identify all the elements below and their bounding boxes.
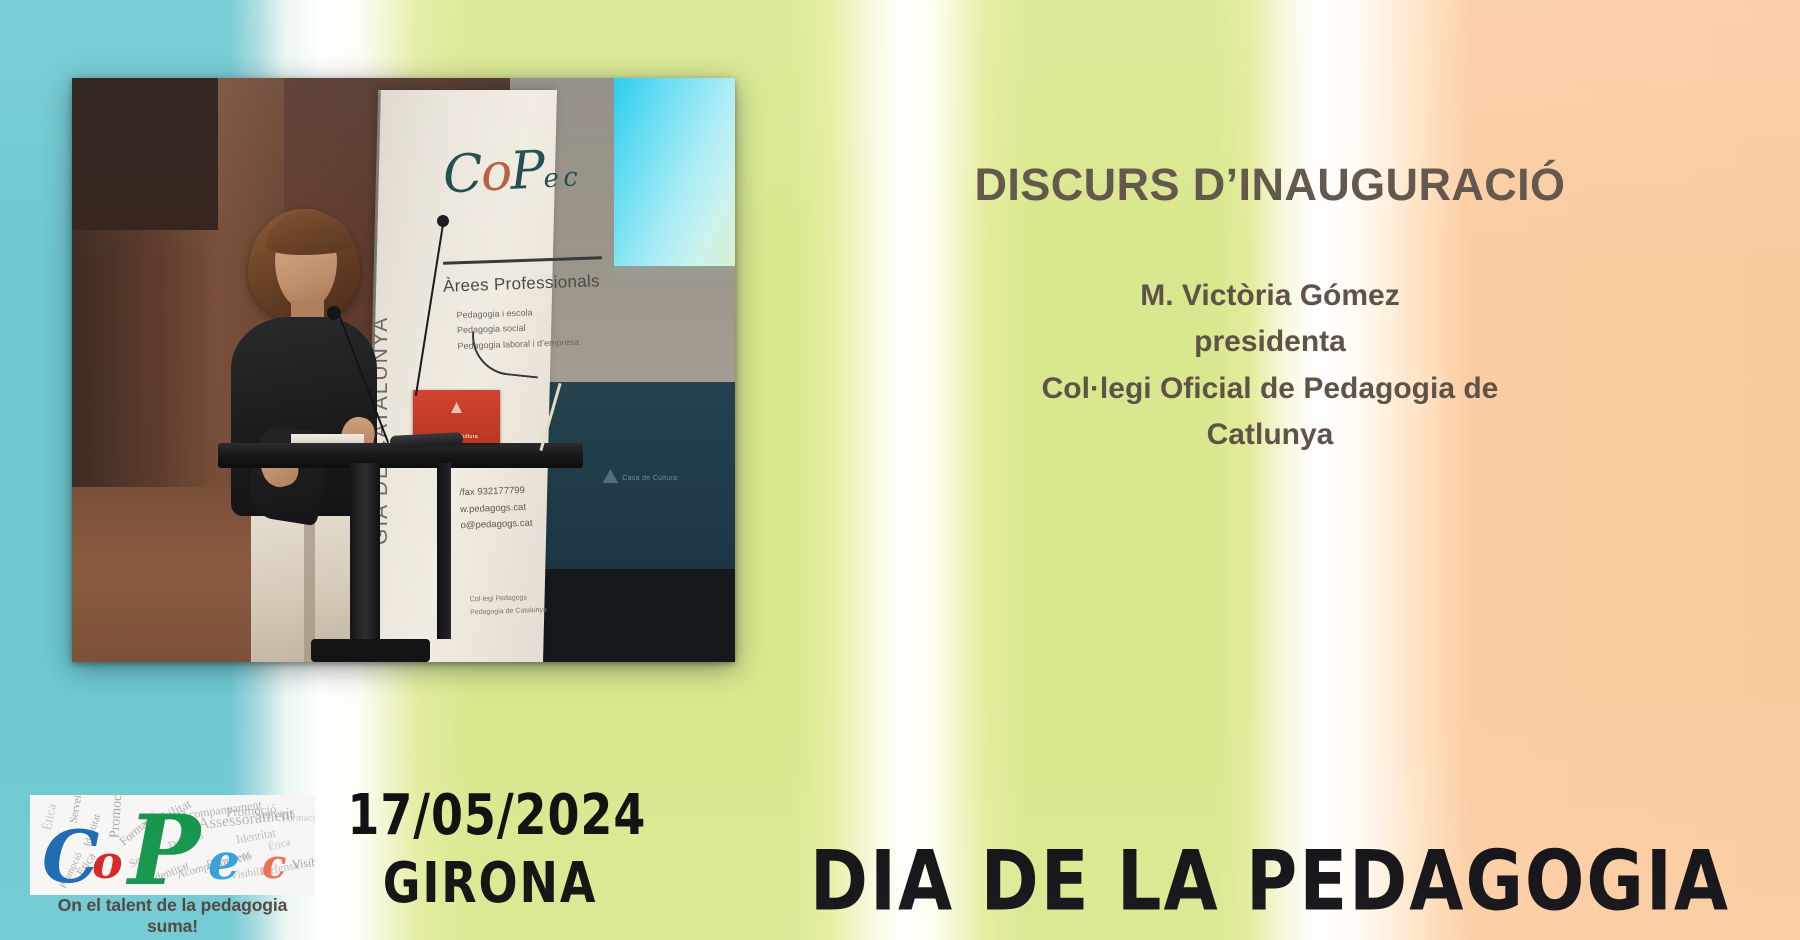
copec-letter-c-blue: C: [42, 821, 99, 893]
copec-lettermark: C o P e c: [30, 799, 315, 893]
event-photo: GIA DE CATALUNYA CoPe c Àrees Profession…: [72, 78, 735, 662]
speaker-org-line-1: Col·legi Oficial de Pedagogia de: [800, 366, 1740, 413]
photo-content: GIA DE CATALUNYA CoPe c Àrees Profession…: [72, 78, 735, 662]
copec-letter-o-red: o: [92, 839, 123, 885]
banner-contact-line: /fax 932177799: [459, 483, 532, 502]
copec-tagline: On el talent de la pedagogia suma!: [30, 895, 315, 937]
event-date: 17/05/2024: [347, 787, 632, 843]
event-title: DIA DE LA PEDAGOGIA: [740, 840, 1800, 923]
slide-background: GIA DE CATALUNYA CoPe c Àrees Profession…: [0, 0, 1800, 940]
speaker-name: M. Victòria Gómez: [800, 273, 1740, 320]
photo-dark-corner: [72, 78, 218, 230]
copec-letter-c-orange: c: [262, 845, 286, 885]
copec-letter-p-green: P: [128, 803, 200, 895]
lectern-post-secondary: [437, 463, 452, 638]
date-city-block: 17/05/2024 GIRONA: [335, 790, 645, 908]
banner-contact: /fax 932177799 w.pedagogs.cat o@pedagogs…: [459, 483, 533, 535]
banner-footer-line: Pedagogia de Catalunya: [470, 604, 547, 620]
speaker-credentials: M. Victòria Gómez presidenta Col·legi Of…: [800, 273, 1740, 459]
venue-logo-label: Casa de Cultura: [622, 475, 677, 482]
banner-footer: Col·legi Pedagogs Pedagogia de Catalunya: [469, 591, 547, 620]
photo-dark-band: [536, 569, 735, 662]
speaker-org-line-2: Catlunya: [800, 412, 1740, 459]
casa-de-cultura-icon: [451, 402, 462, 413]
copec-letter-e-blue: e: [208, 837, 240, 887]
slide-headline: DISCURS D’INAUGURACIÓ: [800, 160, 1740, 210]
speaker-role: presidenta: [800, 319, 1740, 366]
event-city: GIRONA: [347, 855, 632, 911]
banner-contact-line: o@pedagogs.cat: [460, 516, 533, 535]
lectern-post: [350, 463, 380, 662]
projection-screen-shadow: [614, 266, 735, 284]
projection-screen: [614, 78, 735, 266]
lectern-base: [311, 639, 430, 662]
copec-logo: ÈticaServeisIdentitatPromocióFormacióVis…: [30, 795, 315, 923]
slide-text-block: DISCURS D’INAUGURACIÓ M. Victòria Gómez …: [800, 160, 1740, 459]
banner-copec-logo: CoPe c: [442, 139, 577, 206]
copec-logo-wordcloud-panel: ÈticaServeisIdentitatPromocióFormacióVis…: [30, 795, 315, 895]
